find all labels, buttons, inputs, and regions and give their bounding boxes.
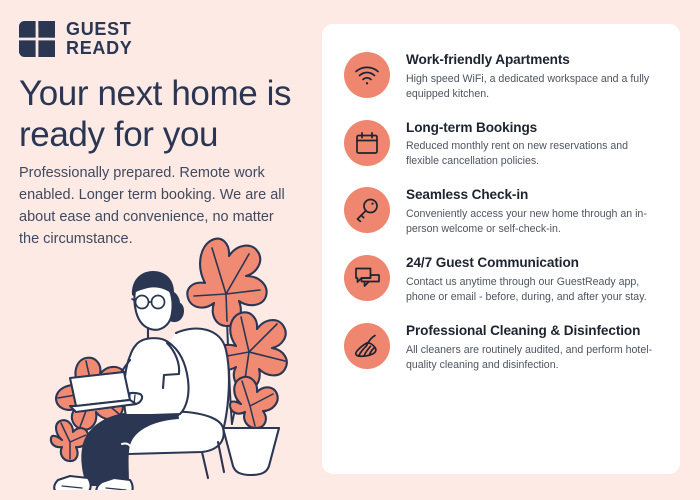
page-title: Your next home is ready for you <box>19 74 319 155</box>
feature-title: Long-term Bookings <box>406 119 658 137</box>
feature-item-professional-cleaning[interactable]: Professional Cleaning & Disinfection All… <box>344 321 662 373</box>
broom-icon <box>344 323 390 369</box>
feature-text: 24/7 Guest Communication Contact us anyt… <box>406 253 658 305</box>
chat-bubbles-icon <box>344 255 390 301</box>
feature-description: Contact us anytime through our GuestRead… <box>406 275 658 305</box>
feature-item-seamless-check-in[interactable]: Seamless Check-in Conveniently access yo… <box>344 185 662 237</box>
feature-description: High speed WiFi, a dedicated workspace a… <box>406 72 658 102</box>
feature-title: Work-friendly Apartments <box>406 51 658 69</box>
woman-with-laptop-and-plants-illustration <box>36 228 316 490</box>
feature-text: Seamless Check-in Conveniently access yo… <box>406 185 658 237</box>
feature-title: Professional Cleaning & Disinfection <box>406 322 658 340</box>
feature-item-work-friendly-apartments[interactable]: Work-friendly Apartments High speed WiFi… <box>344 50 662 102</box>
plant-pot <box>223 428 279 475</box>
features-panel: Work-friendly Apartments High speed WiFi… <box>322 24 680 474</box>
feature-text: Professional Cleaning & Disinfection All… <box>406 321 658 373</box>
feature-item-guest-communication[interactable]: 24/7 Guest Communication Contact us anyt… <box>344 253 662 305</box>
feature-text: Long-term Bookings Reduced monthly rent … <box>406 118 658 170</box>
guestready-logo-icon <box>19 21 55 57</box>
feature-item-long-term-bookings[interactable]: Long-term Bookings Reduced monthly rent … <box>344 118 662 170</box>
brand-name-line1: GUEST <box>66 20 133 39</box>
feature-description: Conveniently access your new home throug… <box>406 207 658 237</box>
feature-list: Work-friendly Apartments High speed WiFi… <box>344 50 662 373</box>
wifi-icon <box>344 52 390 98</box>
brand-name-line2: READY <box>66 39 133 58</box>
feature-text: Work-friendly Apartments High speed WiFi… <box>406 50 658 102</box>
feature-title: 24/7 Guest Communication <box>406 254 658 272</box>
brand-logo[interactable]: GUEST READY <box>19 20 133 57</box>
feature-description: All cleaners are routinely audited, and … <box>406 343 658 373</box>
calendar-icon <box>344 120 390 166</box>
feature-description: Reduced monthly rent on new reservations… <box>406 139 658 169</box>
feature-title: Seamless Check-in <box>406 186 658 204</box>
hero-column: GUEST READY Your next home is ready for … <box>0 0 322 500</box>
key-icon <box>344 187 390 233</box>
